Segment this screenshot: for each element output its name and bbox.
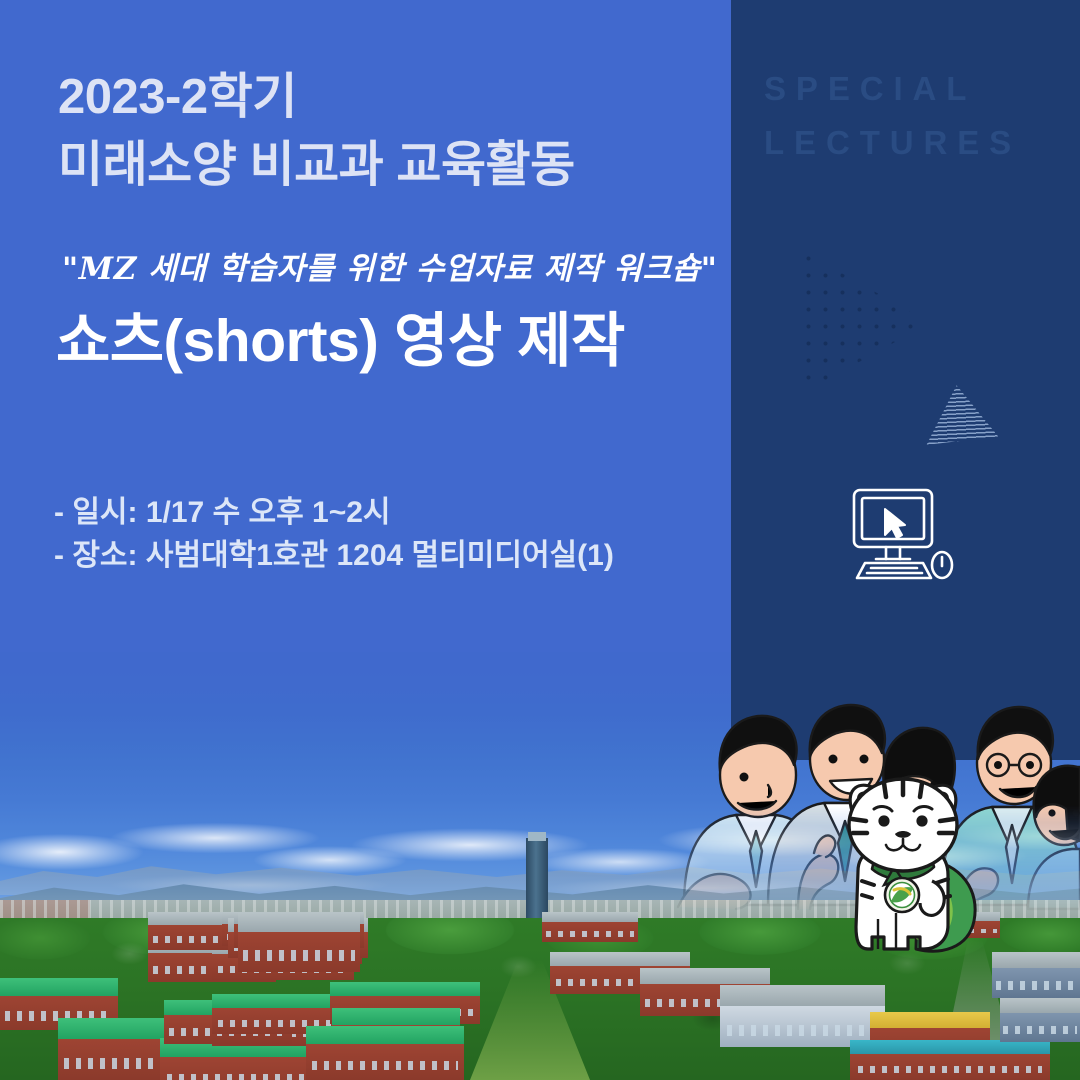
campus-building [306, 1026, 464, 1080]
campus-building [542, 912, 638, 942]
campus-building [1000, 998, 1080, 1042]
campus-building [850, 1040, 1050, 1080]
tower-roof [528, 832, 546, 841]
special-lectures-ghost-line2: LECTURES [764, 126, 1021, 159]
page-header-line2: 미래소양 비교과 교육활동 [58, 141, 575, 190]
campus-building [992, 952, 1080, 998]
white-tiger-mascot [812, 763, 998, 963]
campus-building-main [238, 912, 360, 972]
dark-navy-panel [731, 0, 1080, 760]
workshop-quote: "MZ 세대 학습자를 위한 수업자료 제작 워크숍" [62, 243, 718, 288]
page-title: 쇼츠(shorts) 영상 제작 [56, 312, 625, 371]
detail-date: - 일시: 1/17 수 오후 1~2시 [54, 498, 391, 528]
monitor-icon [845, 487, 963, 582]
page-header-line1: 2023-2학기 [58, 73, 297, 122]
special-lectures-ghost-line1: SPECIAL [764, 72, 976, 105]
poster-canvas: SPECIAL LECTURES 2023-2학기 미래소양 비교과 교육활동 … [0, 0, 1080, 1080]
detail-place: - 장소: 사범대학1호관 1204 멀티미디어실(1) [54, 541, 614, 571]
campus-building-white [720, 985, 885, 1047]
